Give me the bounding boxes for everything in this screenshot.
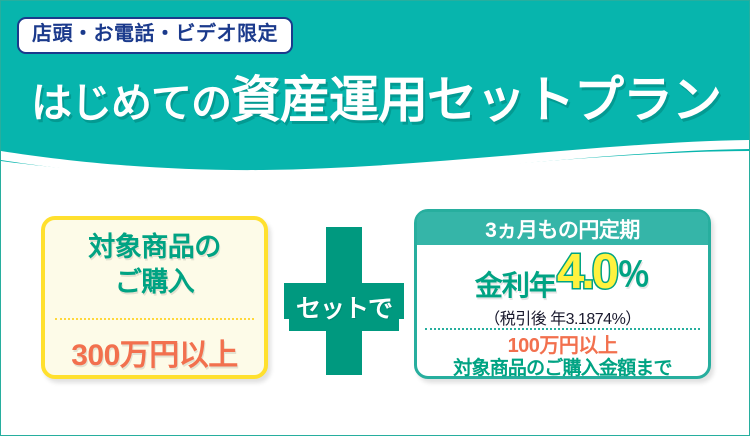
purchase-title-line2: ご購入 (115, 267, 195, 297)
plus-connector: セットで (284, 227, 404, 375)
set-label: セットで (289, 283, 399, 331)
purchase-card-title: 対象商品の ご購入 (45, 230, 264, 299)
condition-card-purchase: 対象商品の ご購入 300万円以上 (41, 216, 268, 379)
channel-limited-badge: 店頭・お電話・ビデオ限定 (17, 17, 293, 54)
purchase-card-divider (55, 318, 254, 320)
deposit-card: 3ヵ月もの円定期 金利年4.0％ （税引後 年3.1874%） 100万円以上 … (414, 209, 711, 379)
banner-header: 店頭・お電話・ビデオ限定 はじめての資産運用セットプラン (1, 1, 750, 187)
interest-rate-value: 4.0 (557, 245, 616, 299)
interest-rate-label: 金利年 (475, 270, 556, 301)
promo-banner: 店頭・お電話・ビデオ限定 はじめての資産運用セットプラン 対象商品の ご購入 3… (0, 0, 750, 436)
purchase-minimum-amount: 300万円以上 (45, 330, 264, 374)
after-tax-rate: （税引後 年3.1874%） (417, 305, 708, 329)
banner-body: 対象商品の ご購入 300万円以上 セットで 3ヵ月もの円定期 金利年4.0％ … (1, 187, 750, 436)
page-title: はじめての資産運用セットプラン (1, 75, 750, 125)
interest-rate-unit: ％ (617, 256, 650, 293)
interest-rate-row: 金利年4.0％ (417, 248, 708, 300)
deposit-minimum-amount: 100万円以上 (417, 334, 708, 358)
deposit-limit-note: 対象商品のご購入金額まで (417, 357, 708, 380)
purchase-title-line1: 対象商品の (88, 232, 221, 262)
deposit-card-divider (425, 328, 700, 330)
deposit-card-header: 3ヵ月もの円定期 (417, 212, 708, 245)
headline-prefix: はじめての (31, 80, 231, 126)
headline-main: 資産運用セットプラン (231, 72, 721, 128)
